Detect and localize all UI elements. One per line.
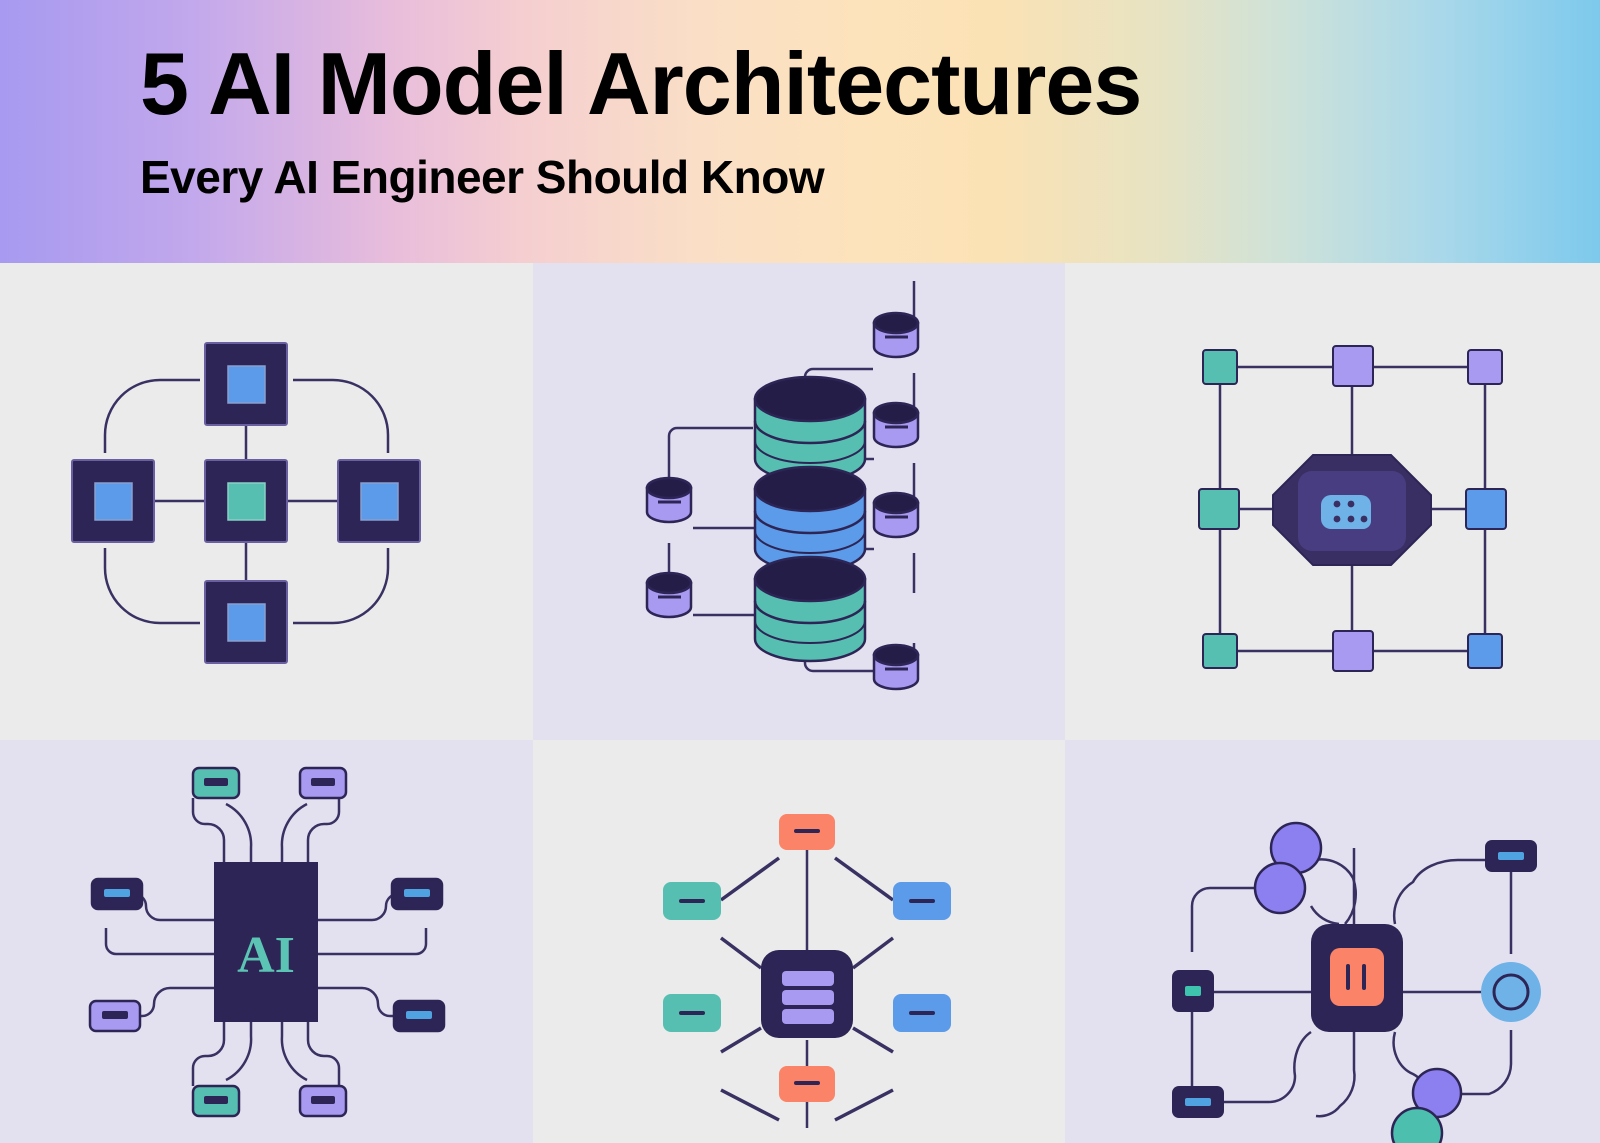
hub-wire-top-left — [193, 798, 224, 862]
chipgrid-node-top-right[interactable] — [1468, 350, 1502, 384]
hub-wire-bottom-right — [308, 1022, 339, 1086]
db-main-cylinder-3[interactable] — [755, 557, 865, 661]
ai-chip-hub-diagram: AI — [0, 740, 533, 1143]
flow-wire-chip-topright — [1394, 860, 1494, 924]
center-chip[interactable] — [1273, 455, 1431, 565]
pipe-edge-center-lowerright — [853, 1028, 893, 1052]
db-small-cylinder-right-1[interactable] — [874, 313, 918, 357]
mesh-edge-br — [293, 548, 388, 623]
infographic-page: 5 AI Model Architectures Every AI Engine… — [0, 0, 1600, 1143]
page-title: 5 AI Model Architectures — [140, 0, 1600, 128]
flow-node-top-right[interactable] — [1485, 840, 1537, 872]
page-subtitle: Every AI Engineer Should Know — [140, 128, 1600, 204]
pipeline-node-top[interactable] — [779, 814, 835, 850]
hub-wire-top-right — [308, 798, 339, 862]
agent-center-chip[interactable] — [1311, 924, 1403, 1032]
flow-node-bottom-left[interactable] — [1172, 1086, 1224, 1118]
hub-node-top-left[interactable] — [193, 768, 239, 798]
pipe-edge-upperright-center — [853, 938, 893, 968]
flow-node-circle-lower[interactable] — [1255, 863, 1305, 913]
hub-node-bottom-left[interactable] — [193, 1086, 239, 1116]
hub-node-upper-right[interactable] — [392, 879, 442, 909]
chipgrid-node-bottom-left[interactable] — [1203, 634, 1237, 668]
hub-wire-right-mid — [318, 928, 426, 954]
hub-node-bottom-right[interactable] — [300, 1086, 346, 1116]
hub-wire-left-mid — [106, 928, 214, 954]
chipgrid-node-bottom-center[interactable] — [1333, 631, 1373, 671]
hub-wire-bottom-left-curve — [226, 1022, 251, 1080]
mesh-node-top[interactable] — [205, 343, 287, 425]
db-small-cylinder-right-2[interactable] — [874, 403, 918, 447]
db-small-cylinder-left-1[interactable] — [647, 478, 691, 522]
header-banner: 5 AI Model Architectures Every AI Engine… — [0, 0, 1600, 263]
neural-cluster-icon — [1321, 495, 1371, 529]
db-small-cylinder-left-2[interactable] — [647, 573, 691, 617]
mesh-nodes-diagram — [0, 263, 533, 740]
mesh-node-left[interactable] — [72, 460, 154, 542]
mesh-edge-bl — [105, 548, 200, 623]
hub-wire-bottom-right-curve — [282, 1022, 307, 1080]
chipgrid-node-bottom-right[interactable] — [1468, 634, 1502, 668]
mesh-edge-tl — [105, 380, 200, 453]
hub-wire-bottom-left — [193, 1022, 224, 1086]
panel-diamond-pipeline-architecture[interactable] — [533, 740, 1065, 1143]
ai-chip-label: AI — [237, 927, 295, 984]
pipe-edge-top-upperleft — [721, 858, 779, 900]
flow-node-mid-left[interactable] — [1172, 970, 1214, 1012]
hub-node-lower-left[interactable] — [90, 1001, 140, 1031]
ai-chip[interactable]: AI — [214, 862, 318, 1022]
hub-node-top-right[interactable] — [300, 768, 346, 798]
panel-chip-grid-architecture[interactable] — [1065, 263, 1600, 740]
pipeline-node-lower-left[interactable] — [663, 994, 721, 1032]
db-small-cylinder-right-4[interactable] — [874, 645, 918, 689]
diamond-pipeline-diagram — [533, 740, 1065, 1143]
chipgrid-node-top-left[interactable] — [1203, 350, 1237, 384]
panel-agent-flow-architecture[interactable] — [1065, 740, 1600, 1143]
chipgrid-node-mid-right[interactable] — [1466, 489, 1506, 529]
pipe-edge-center-lowerleft — [721, 1028, 761, 1052]
mesh-node-right[interactable] — [338, 460, 420, 542]
panel-grid: AI — [0, 263, 1600, 1143]
pipe-edge-lowerright-bottom — [835, 1090, 893, 1120]
chipgrid-node-mid-left[interactable] — [1199, 489, 1239, 529]
panel-database-stack-architecture[interactable] — [533, 263, 1065, 740]
db-small-cylinder-right-3[interactable] — [874, 493, 918, 537]
pipe-edge-upperleft-center — [721, 938, 761, 968]
database-stack-diagram — [533, 263, 1065, 740]
pipeline-center-chip[interactable] — [761, 950, 853, 1038]
db-main-cylinder-1[interactable] — [755, 377, 865, 481]
flow-wire-circle2-chip — [1311, 906, 1339, 924]
db-main-cylinder-2[interactable] — [755, 467, 865, 571]
agent-flow-diagram — [1065, 740, 1600, 1143]
flow-node-ring[interactable] — [1481, 962, 1541, 1022]
hub-wire-top-left-curve — [226, 804, 251, 862]
mesh-node-center[interactable] — [205, 460, 287, 542]
pipeline-node-upper-left[interactable] — [663, 882, 721, 920]
flow-wire-circle1-chip — [1315, 859, 1356, 924]
flow-wire-chip-bottomleft — [1223, 1032, 1311, 1102]
pipeline-node-bottom[interactable] — [779, 1066, 835, 1102]
hub-wire-top-right-curve — [282, 804, 307, 862]
chip-grid-diagram — [1065, 263, 1600, 740]
flow-wire-chip-tealcircle — [1316, 1032, 1354, 1116]
pipe-edge-lowerleft-bottom — [721, 1090, 779, 1120]
mesh-edge-tr — [293, 380, 388, 453]
panel-network-mesh-architecture[interactable] — [0, 263, 533, 740]
chipgrid-node-top-center[interactable] — [1333, 346, 1373, 386]
pipe-edge-top-upperright — [835, 858, 893, 900]
panel-ai-chip-hub-architecture[interactable]: AI — [0, 740, 533, 1143]
hub-node-upper-left[interactable] — [92, 879, 142, 909]
pipeline-node-upper-right[interactable] — [893, 882, 951, 920]
pipeline-node-lower-right[interactable] — [893, 994, 951, 1032]
mesh-node-bottom[interactable] — [205, 581, 287, 663]
hub-node-lower-right[interactable] — [394, 1001, 444, 1031]
